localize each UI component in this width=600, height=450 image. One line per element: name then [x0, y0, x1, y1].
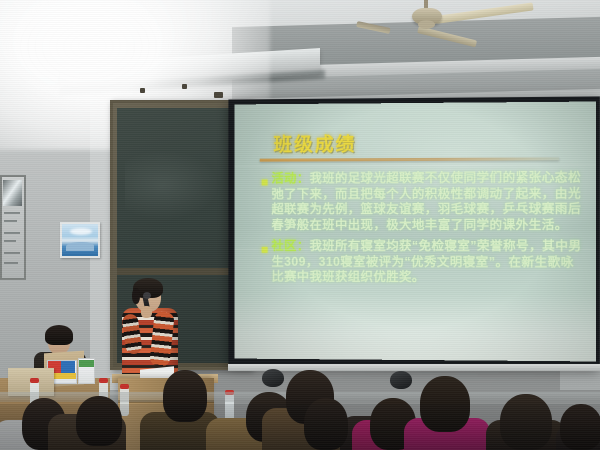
blackboard-chalk-residue [125, 150, 220, 220]
product-box-blue-panel [61, 361, 75, 373]
small-box-green-panel [79, 360, 94, 367]
notice-board-text-line [4, 262, 18, 264]
projection-screen[interactable]: 班级成绩 活动：我班的足球光超联赛不仅使同学们的紧张心态松弛了下来，而且把每个人… [234, 102, 595, 362]
projection-screen-shelf [228, 364, 600, 371]
blackboard-clip [182, 84, 187, 89]
picture-mountain [66, 242, 94, 251]
wall-picture-frame [60, 222, 100, 258]
foreground-shadow [0, 404, 600, 450]
water-bottle-cap [99, 378, 108, 383]
picture-cloud [70, 228, 92, 235]
presenter-hair-side [132, 288, 140, 304]
notice-board-text-line [4, 252, 20, 254]
notice-board-text-line [4, 212, 20, 214]
seated-person-hair [45, 325, 73, 345]
blackboard-divider [117, 268, 245, 275]
notice-board-text-line [4, 232, 20, 234]
microphone-head [143, 292, 151, 299]
notice-board-text-line [4, 220, 17, 222]
water-bottle-cap [30, 378, 39, 383]
presenter-hand [141, 306, 152, 318]
blackboard-clip [214, 92, 223, 98]
classroom-presentation-photo: 班级成绩 活动：我班的足球光超联赛不仅使同学们的紧张心态松弛了下来，而且把每个人… [0, 0, 600, 450]
screen-roller [262, 369, 284, 387]
wall-picture [62, 224, 98, 256]
screen-roller [390, 371, 412, 389]
ceiling-fan-hub-lower [418, 20, 435, 29]
notice-board-text-line [4, 240, 16, 242]
water-bottle-cap [120, 384, 129, 389]
screen-vignette [234, 102, 595, 362]
blackboard-clip [140, 88, 145, 93]
notice-board-image [3, 180, 22, 206]
